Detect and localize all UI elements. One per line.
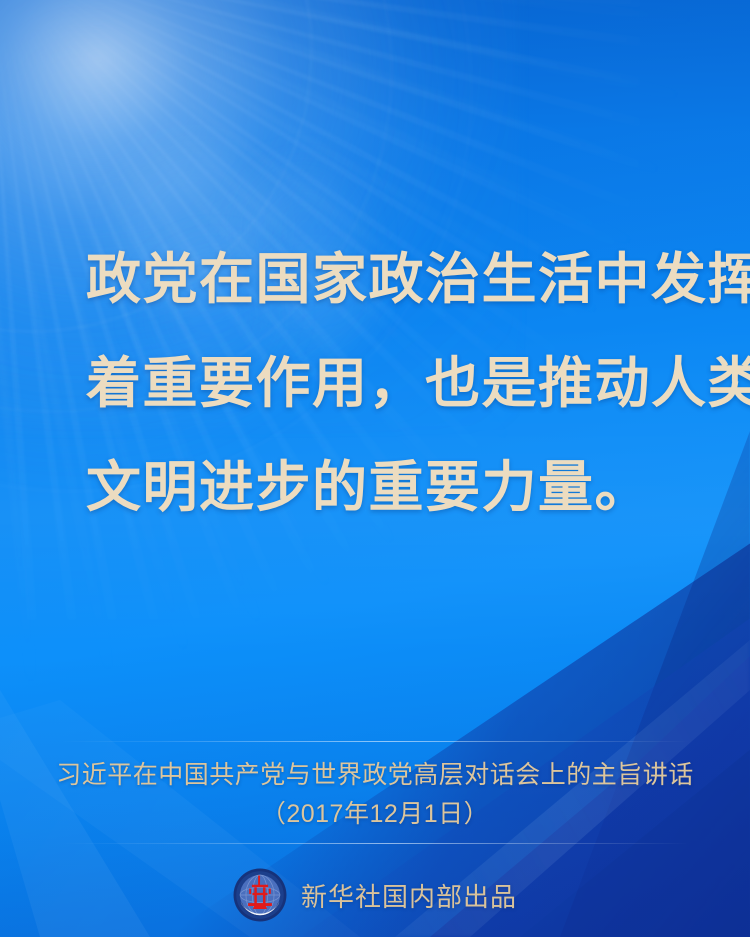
xinhua-news-agency-logo-icon — [233, 868, 287, 922]
headline-quote: 政党在国家政治生活中发挥 着重要作用，也是推动人类 文明进步的重要力量。 — [86, 228, 686, 540]
headline-line-3: 文明进步的重要力量。 — [86, 436, 686, 540]
divider-below-caption — [60, 843, 690, 844]
divider-above-caption — [60, 741, 690, 742]
caption-title: 习近平在中国共产党与世界政党高层对话会上的主旨讲话 — [0, 756, 750, 795]
caption-block: 习近平在中国共产党与世界政党高层对话会上的主旨讲话 （2017年12月1日） — [0, 756, 750, 834]
caption-date: （2017年12月1日） — [0, 795, 750, 834]
footer-publisher-text: 新华社国内部出品 — [301, 877, 517, 914]
headline-line-1: 政党在国家政治生活中发挥 — [86, 228, 686, 332]
poster-canvas: 政党在国家政治生活中发挥 着重要作用，也是推动人类 文明进步的重要力量。 习近平… — [0, 0, 750, 937]
footer-block: 新华社国内部出品 — [0, 868, 750, 922]
headline-line-2: 着重要作用，也是推动人类 — [86, 332, 686, 436]
